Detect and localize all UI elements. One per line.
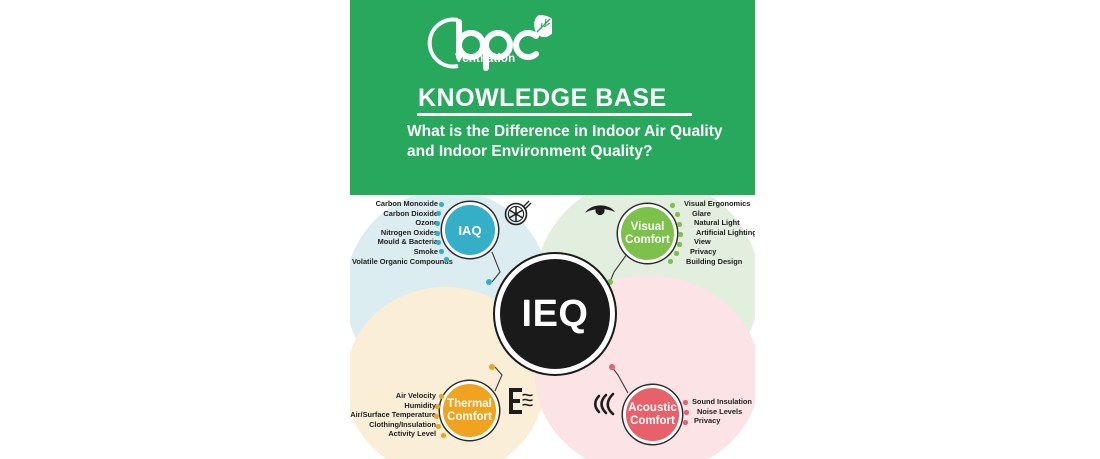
list-item: Artificial Lighting (696, 228, 755, 238)
list-item: Air/Surface Temperature (350, 410, 436, 420)
tick-dot (436, 240, 441, 245)
list-item: Air Velocity (350, 391, 436, 401)
list-item: Nitrogen Oxides (352, 228, 438, 238)
list-item: Sound Insulation (692, 397, 755, 407)
list-item: Smoke (352, 247, 438, 257)
title-underline (417, 113, 692, 116)
tick-dot (436, 424, 441, 429)
tick-dot (677, 222, 682, 227)
node-acoustic-label: Acoustic Comfort (628, 402, 677, 428)
header-banner: Ventilation KNOWLEDGE BASE What is the D… (350, 0, 755, 195)
heat-vent-icon (505, 385, 537, 424)
page-subtitle: What is the Difference in Indoor Air Qua… (407, 122, 747, 161)
ieq-diagram: IEQ IAQ Carbon Monoxide Carbon Dioxide O… (350, 195, 755, 459)
tick-dot (670, 203, 675, 208)
tick-dot (441, 433, 446, 438)
node-thermal-label-line1: Thermal (447, 398, 492, 410)
list-item: Humidity (350, 401, 436, 411)
node-iaq-label: IAQ (458, 224, 481, 237)
list-item: Glare (692, 209, 755, 219)
node-visual-comfort[interactable]: Visual Comfort (618, 204, 677, 263)
tick-dot (684, 410, 689, 415)
node-acoustic-comfort[interactable]: Acoustic Comfort (623, 385, 682, 444)
tick-dot (675, 212, 680, 217)
sound-wave-icon (590, 387, 622, 424)
node-visual-label-line2: Comfort (625, 234, 670, 246)
poster: Ventilation KNOWLEDGE BASE What is the D… (350, 0, 755, 459)
eye-icon (583, 199, 617, 228)
node-visual-label-line1: Visual (631, 221, 665, 233)
tick-dot (435, 231, 440, 236)
list-item: Ozone (352, 218, 438, 228)
center-node-ieq[interactable]: IEQ (495, 254, 615, 374)
tick-dot (674, 251, 679, 256)
tick-dot (444, 257, 449, 262)
node-thermal-label-line2: Comfort (447, 411, 492, 423)
list-thermal-comfort: Air Velocity Humidity Air/Surface Temper… (350, 391, 436, 439)
tick-dot (678, 232, 683, 237)
list-item: Visual Ergonomics (684, 199, 755, 209)
node-acoustic-label-line1: Acoustic (628, 402, 677, 414)
tick-dot (439, 249, 444, 254)
node-thermal-comfort[interactable]: Thermal Comfort (440, 381, 499, 440)
list-visual-comfort: Visual Ergonomics Glare Natural Light Ar… (684, 199, 755, 266)
tick-dot (439, 202, 444, 207)
junction-dot-iaq (486, 279, 492, 285)
list-iaq: Carbon Monoxide Carbon Dioxide Ozone Nit… (352, 199, 438, 266)
list-item: Mould & Bacteria (352, 237, 438, 247)
list-item: View (694, 237, 755, 247)
node-iaq[interactable]: IAQ (442, 202, 498, 258)
page-title: KNOWLEDGE BASE (418, 84, 667, 113)
tick-dot (435, 404, 440, 409)
list-item: Noise Levels (697, 407, 755, 417)
node-visual-label: Visual Comfort (625, 221, 670, 247)
tick-dot (436, 211, 441, 216)
list-item: Carbon Dioxide (352, 209, 438, 219)
logo-subtext: Ventilation (455, 53, 515, 65)
node-acoustic-label-line2: Comfort (630, 415, 675, 427)
junction-dot-acoustic (609, 364, 615, 370)
node-thermal-label: Thermal Comfort (447, 398, 492, 424)
list-item: Natural Light (694, 218, 755, 228)
list-item: Building Design (686, 257, 755, 267)
tick-dot (677, 242, 682, 247)
junction-dot-thermal (489, 364, 495, 370)
list-acoustic-comfort: Sound Insulation Noise Levels Privacy (692, 397, 755, 426)
list-item: Activity Level (350, 429, 436, 439)
fan-icon (502, 197, 532, 232)
center-node-label: IEQ (522, 295, 589, 333)
tick-dot (668, 259, 673, 264)
tick-dot (434, 414, 439, 419)
tick-dot (435, 221, 440, 226)
tick-dot (683, 400, 688, 405)
bpc-logo: Ventilation (412, 13, 552, 73)
list-item: Volatile Organic Compounds (352, 257, 438, 267)
list-item: Privacy (694, 416, 755, 426)
list-item: Clothing/Insulation (350, 420, 436, 430)
tick-dot (439, 394, 444, 399)
junction-dot-visual (607, 279, 613, 285)
tick-dot (683, 420, 688, 425)
infographic-canvas: Ventilation KNOWLEDGE BASE What is the D… (0, 0, 1100, 459)
list-item: Privacy (690, 247, 755, 257)
list-item: Carbon Monoxide (352, 199, 438, 209)
